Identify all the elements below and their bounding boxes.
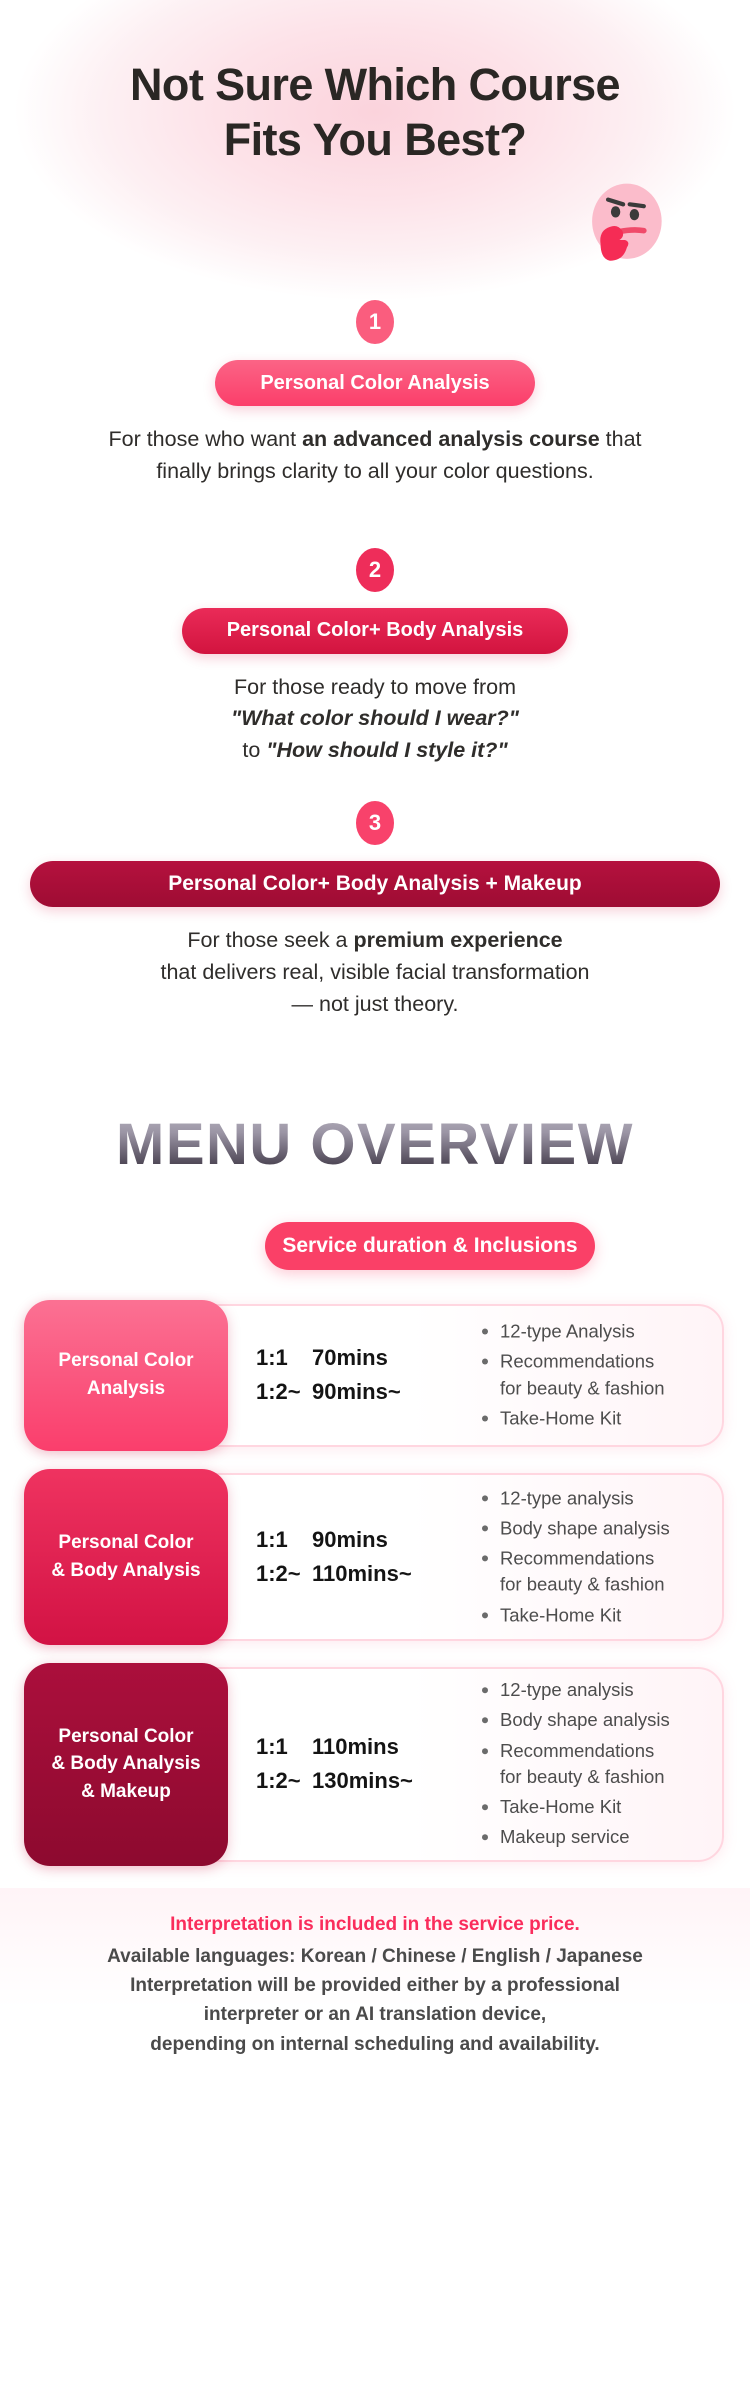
thinking-face-icon: [578, 178, 672, 272]
step-2-desc-line-1: For those ready to move from: [0, 672, 750, 704]
menu-cards-list: Personal Color Analysis 1:1 70mins 1:2~ …: [0, 1304, 750, 1862]
menu-card-1-duration: 1:1 70mins 1:2~ 90mins~: [256, 1341, 401, 1409]
step-1-desc-line-2: finally brings clarity to all your color…: [0, 456, 750, 488]
menu-card-1-ratio-1: 1:1: [256, 1341, 312, 1375]
menu-card-2-inclusion-3: Recommendations: [500, 1547, 654, 1568]
step-1-pill[interactable]: Personal Color Analysis: [215, 360, 535, 406]
footer-highlight: Interpretation is included in the servic…: [40, 1914, 710, 1936]
page-title-line-1: Not Sure Which Course: [130, 59, 620, 110]
menu-card-1-ratio-2: 1:2~: [256, 1375, 312, 1409]
step-2: 2 Personal Color+ Body Analysis For thos…: [0, 548, 750, 767]
menu-card-2[interactable]: Personal Color & Body Analysis 1:1 90min…: [26, 1473, 724, 1641]
menu-card-1-inclusion-2: Recommendations: [500, 1351, 654, 1372]
menu-card-1[interactable]: Personal Color Analysis 1:1 70mins 1:2~ …: [26, 1304, 724, 1447]
menu-card-1-inclusions: 12-type Analysis Recommendations for bea…: [480, 1318, 665, 1431]
step-1-desc-bold: an advanced analysis course: [302, 427, 600, 451]
menu-card-1-label-line-2: Analysis: [58, 1375, 193, 1403]
step-3: 3 Personal Color+ Body Analysis + Makeup…: [0, 801, 750, 1020]
list-item: 12-type analysis: [480, 1485, 670, 1511]
step-1-desc-post: that: [600, 427, 642, 451]
step-1-description: For those who want an advanced analysis …: [0, 424, 750, 488]
list-item: Body shape analysis: [480, 1707, 670, 1733]
step-3-desc-line-2: that delivers real, visible facial trans…: [0, 957, 750, 989]
step-3-description: For those seek a premium experience that…: [0, 925, 750, 1020]
list-item: Take-Home Kit: [480, 1405, 665, 1431]
menu-card-3-inclusion-3-sub: for beauty & fashion: [500, 1764, 670, 1790]
list-item: Recommendations for beauty & fashion: [480, 1738, 670, 1791]
service-duration-pill[interactable]: Service duration & Inclusions: [265, 1222, 595, 1270]
footer-notes: Interpretation is included in the servic…: [0, 1888, 750, 2060]
menu-card-3-duration: 1:1 110mins 1:2~ 130mins~: [256, 1730, 413, 1798]
list-item: 12-type analysis: [480, 1677, 670, 1703]
menu-card-2-duration: 1:1 90mins 1:2~ 110mins~: [256, 1522, 412, 1590]
menu-card-3-label-line-1: Personal Color: [51, 1723, 200, 1751]
footer-line-1: Available languages: Korean / Chinese / …: [40, 1942, 710, 1971]
menu-card-1-inclusion-2-sub: for beauty & fashion: [500, 1375, 665, 1401]
list-item: Recommendations for beauty & fashion: [480, 1545, 670, 1598]
list-item: Recommendations for beauty & fashion: [480, 1349, 665, 1402]
footer-line-2: Interpretation will be provided either b…: [40, 1971, 710, 2000]
menu-overview-section: MENU OVERVIEW Service duration & Inclusi…: [0, 1021, 750, 1862]
menu-card-2-inclusion-3-sub: for beauty & fashion: [500, 1572, 670, 1598]
menu-card-3-inclusions: 12-type analysis Body shape analysis Rec…: [480, 1677, 670, 1851]
step-2-desc-quote-2: "How should I style it?": [266, 738, 507, 762]
footer-line-4: depending on internal scheduling and ava…: [40, 2030, 710, 2059]
menu-card-1-label: Personal Color Analysis: [24, 1300, 228, 1451]
footer-line-3: interpreter or an AI translation device,: [40, 2000, 710, 2029]
list-item: Makeup service: [480, 1825, 670, 1851]
menu-card-3-label-line-2: & Body Analysis: [51, 1750, 200, 1778]
menu-card-3[interactable]: Personal Color & Body Analysis & Makeup …: [26, 1667, 724, 1862]
menu-card-2-ratio-1: 1:1: [256, 1522, 312, 1556]
list-item: Take-Home Kit: [480, 1602, 670, 1628]
menu-card-3-ratio-1: 1:1: [256, 1730, 312, 1764]
step-1-desc-pre: For those who want: [108, 427, 302, 451]
menu-card-1-label-line-1: Personal Color: [58, 1347, 193, 1375]
menu-card-3-value-1: 110mins: [312, 1730, 399, 1764]
step-3-pill[interactable]: Personal Color+ Body Analysis + Makeup: [30, 861, 720, 907]
step-2-pill[interactable]: Personal Color+ Body Analysis: [182, 608, 568, 654]
step-2-badge: 2: [356, 548, 394, 592]
step-3-desc-line-3: — not just theory.: [0, 989, 750, 1021]
menu-card-2-label: Personal Color & Body Analysis: [24, 1469, 228, 1645]
list-item: 12-type Analysis: [480, 1318, 665, 1344]
step-2-description: For those ready to move from "What color…: [0, 672, 750, 767]
step-3-desc-bold: premium experience: [354, 928, 563, 952]
list-item: Body shape analysis: [480, 1515, 670, 1541]
step-2-desc-quote-1: "What color should I wear?": [231, 706, 519, 730]
menu-card-3-value-2: 130mins~: [312, 1764, 413, 1798]
menu-card-3-inclusion-3: Recommendations: [500, 1740, 654, 1761]
list-item: Take-Home Kit: [480, 1794, 670, 1820]
menu-card-1-value-2: 90mins~: [312, 1375, 401, 1409]
menu-card-2-value-1: 90mins: [312, 1522, 388, 1556]
menu-card-2-value-2: 110mins~: [312, 1557, 412, 1591]
menu-card-2-ratio-2: 1:2~: [256, 1557, 312, 1591]
menu-card-2-label-line-2: & Body Analysis: [51, 1557, 200, 1585]
menu-card-2-inclusions: 12-type analysis Body shape analysis Rec…: [480, 1485, 670, 1628]
steps-section: 1 Personal Color Analysis For those who …: [0, 300, 750, 1021]
menu-overview-title: MENU OVERVIEW: [0, 1111, 750, 1178]
step-1: 1 Personal Color Analysis For those who …: [0, 300, 750, 488]
menu-card-3-ratio-2: 1:2~: [256, 1764, 312, 1798]
menu-card-1-value-1: 70mins: [312, 1341, 388, 1375]
step-3-desc-pre: For those seek a: [187, 928, 353, 952]
step-3-badge: 3: [356, 801, 394, 845]
menu-card-2-label-line-1: Personal Color: [51, 1529, 200, 1557]
menu-card-3-label: Personal Color & Body Analysis & Makeup: [24, 1663, 228, 1866]
page-title-line-2: Fits You Best?: [0, 113, 750, 168]
hero-section: Not Sure Which Course Fits You Best?: [0, 0, 750, 300]
page-title: Not Sure Which Course Fits You Best?: [0, 58, 750, 168]
menu-card-3-label-line-3: & Makeup: [51, 1778, 200, 1806]
step-1-badge: 1: [356, 300, 394, 344]
step-2-desc-pre: to: [242, 738, 266, 762]
